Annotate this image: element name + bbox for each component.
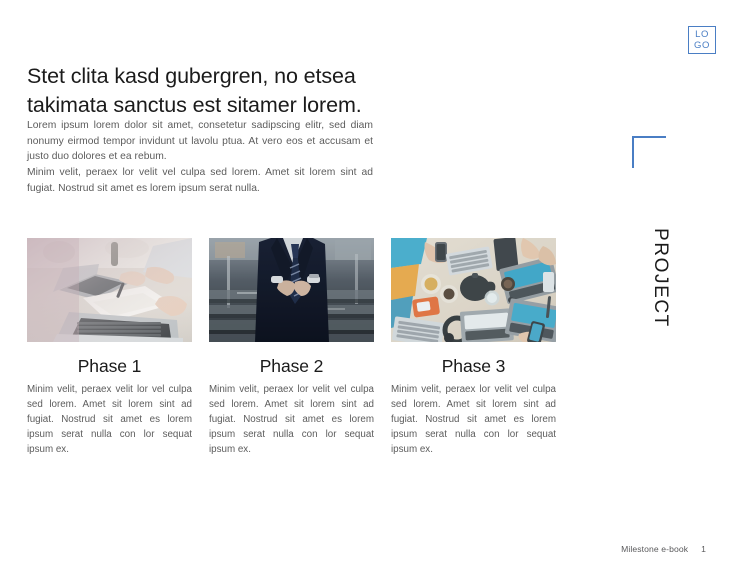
logo-text-line-1: LO xyxy=(695,30,709,40)
photo-businessman-suit-stairs xyxy=(209,238,374,342)
phase-body: Minim velit, peraex lor velit vel culpa … xyxy=(209,377,374,457)
logo-text-line-2: GO xyxy=(694,41,710,51)
phase-column: Phase 3 Minim velit, peraex lor velit ve… xyxy=(391,238,556,457)
vertical-project-label: PROJECT xyxy=(648,228,672,348)
footer: Milestone e-book 1 xyxy=(621,544,706,554)
photo-hands-laptops-desk xyxy=(27,238,192,342)
phase-body: Minim velit, peraex lor velit vel culpa … xyxy=(391,377,556,457)
phase-column: Phase 2 Minim velit, peraex lor velit ve… xyxy=(209,238,374,457)
phase-title: Phase 3 xyxy=(391,342,556,377)
corner-bracket-decoration xyxy=(632,136,666,168)
photo-overhead-desk-laptops xyxy=(391,238,556,342)
intro-text-block: Lorem ipsum lorem dolor sit amet, conset… xyxy=(27,118,373,196)
footer-document-name: Milestone e-book xyxy=(621,544,688,554)
phase-title: Phase 1 xyxy=(27,342,192,377)
slide-page: LO GO Stet clita kasd gubergren, no etse… xyxy=(0,0,743,575)
footer-page-number: 1 xyxy=(701,544,706,554)
phase-title: Phase 2 xyxy=(209,342,374,377)
phase-columns: Phase 1 Minim velit, peraex velit lor ve… xyxy=(27,238,558,457)
page-title: Stet clita kasd gubergren, no etsea taki… xyxy=(27,62,427,120)
logo-square-icon: LO GO xyxy=(688,26,716,54)
intro-paragraph-1: Lorem ipsum lorem dolor sit amet, conset… xyxy=(27,118,373,165)
phase-body: Minim velit, peraex velit lor vel culpa … xyxy=(27,377,192,457)
intro-paragraph-2: Minim velit, peraex lor velit vel culpa … xyxy=(27,165,373,196)
phase-column: Phase 1 Minim velit, peraex velit lor ve… xyxy=(27,238,192,457)
